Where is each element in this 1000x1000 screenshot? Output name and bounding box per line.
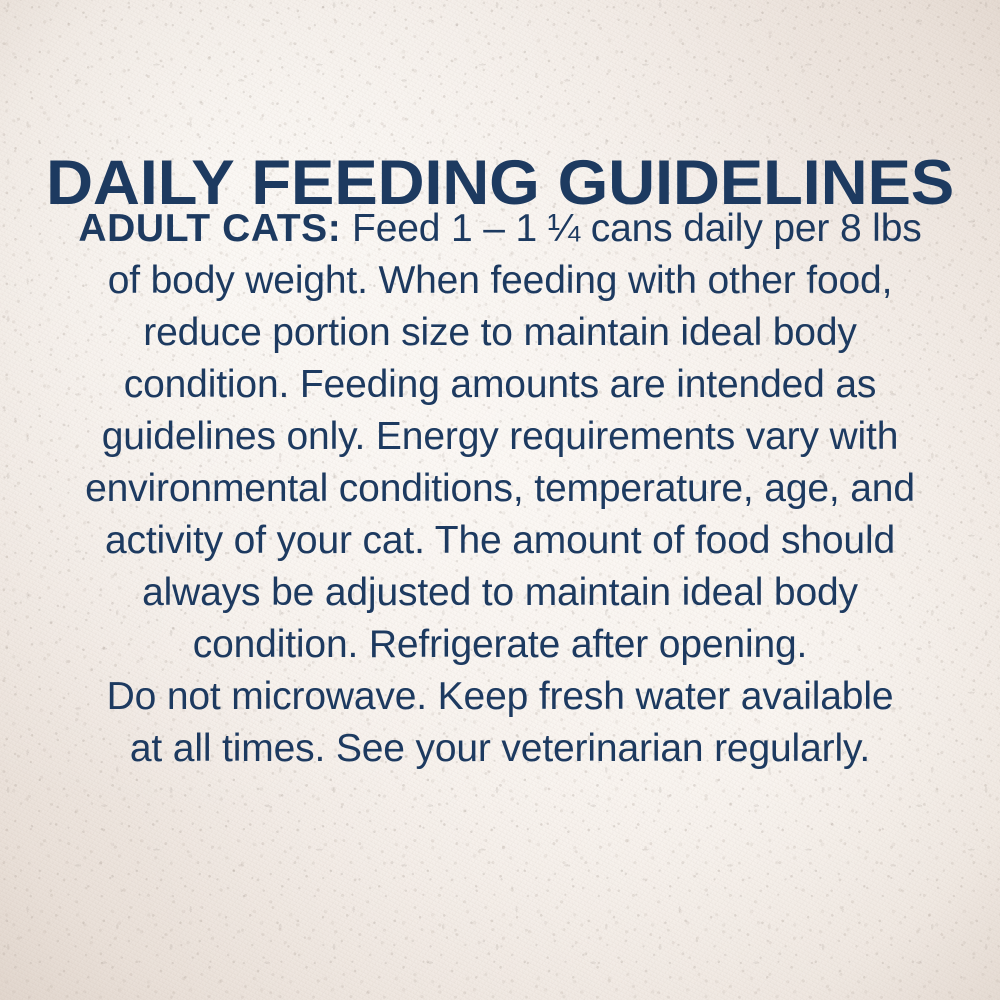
- instruction-line-6: environmental conditions, temperature, a…: [50, 463, 950, 515]
- feeding-instructions-text: ADULT CATS: Feed 1 – 1 ¼ cans daily per …: [50, 203, 950, 775]
- instruction-line-8: always be adjusted to maintain ideal bod…: [50, 567, 950, 619]
- instruction-line-1: ADULT CATS: Feed 1 – 1 ¼ cans daily per …: [50, 203, 950, 255]
- instruction-line-5: guidelines only. Energy requirements var…: [50, 411, 950, 463]
- instruction-line-3: reduce portion size to maintain ideal bo…: [50, 307, 950, 359]
- adult-cats-label: ADULT CATS:: [78, 207, 341, 250]
- feeding-guidelines-panel: DAILY FEEDING GUIDELINES ADULT CATS: Fee…: [0, 0, 1000, 1000]
- instruction-line-10: Do not microwave. Keep fresh water avail…: [50, 671, 950, 723]
- instruction-line-11: at all times. See your veterinarian regu…: [50, 723, 950, 775]
- instruction-line-1-rest: Feed 1 – 1 ¼ cans daily per 8 lbs: [341, 207, 921, 250]
- panel-content: DAILY FEEDING GUIDELINES ADULT CATS: Fee…: [0, 0, 1000, 1000]
- instruction-line-2: of body weight. When feeding with other …: [50, 255, 950, 307]
- instruction-line-9: condition. Refrigerate after opening.: [50, 619, 950, 671]
- instruction-line-4: condition. Feeding amounts are intended …: [50, 359, 950, 411]
- instruction-line-7: activity of your cat. The amount of food…: [50, 515, 950, 567]
